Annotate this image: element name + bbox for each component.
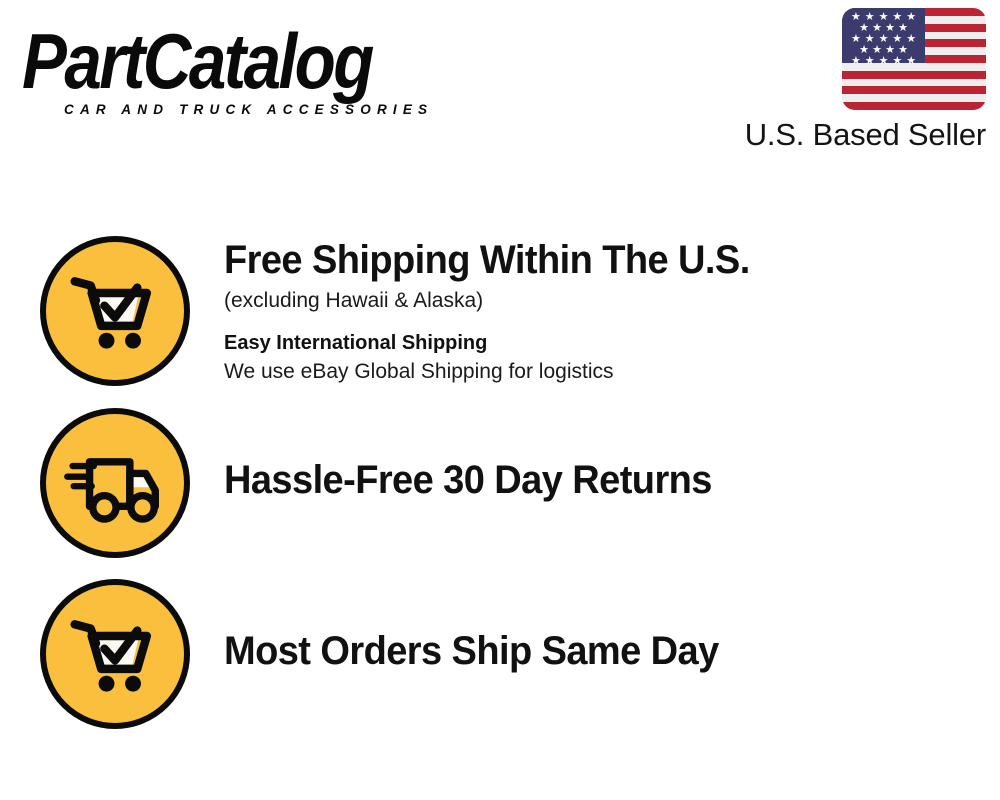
feature-headline: Most Orders Ship Same Day	[224, 629, 719, 673]
feature-subtext-detail: We use eBay Global Shipping for logistic…	[224, 357, 777, 386]
star-icon: ★	[851, 56, 861, 67]
promo-banner: PartCatalog CAR AND TRUCK ACCESSORIES	[0, 0, 1000, 800]
seller-label: U.S. Based Seller	[745, 118, 986, 152]
feature-headline: Hassle-Free 30 Day Returns	[224, 458, 712, 502]
feature-text-block: Most Orders Ship Same Day	[224, 579, 745, 673]
flag-star-row: ★ ★ ★ ★ ★	[847, 12, 920, 23]
feature-subtext-strong: Easy International Shipping	[224, 329, 777, 357]
star-icon: ★	[906, 56, 916, 67]
feature-subtext: (excluding Hawaii & Alaska)	[224, 286, 777, 315]
star-icon: ★	[865, 56, 875, 67]
shopping-cart-check-icon	[40, 579, 190, 729]
flag-stripe	[842, 94, 986, 102]
feature-row: Most Orders Ship Same Day	[0, 579, 1000, 729]
brand-logo: PartCatalog CAR AND TRUCK ACCESSORIES	[22, 22, 492, 117]
feature-row: Free Shipping Within The U.S. (excluding…	[0, 236, 1000, 386]
flag-stripe	[842, 79, 986, 87]
flag-star-field: ★ ★ ★ ★ ★ ★ ★ ★ ★ ★	[842, 8, 925, 63]
flag-star-row: ★ ★ ★ ★ ★	[847, 56, 920, 67]
flag-star-row: ★ ★ ★ ★ ★	[847, 34, 920, 45]
delivery-truck-icon	[40, 408, 190, 558]
flag-canton: ★ ★ ★ ★ ★ ★ ★ ★ ★ ★	[842, 8, 925, 63]
star-icon: ★	[879, 56, 889, 67]
feature-headline: Free Shipping Within The U.S.	[224, 238, 750, 282]
feature-row: Hassle-Free 30 Day Returns	[0, 408, 1000, 558]
shopping-cart-check-icon	[40, 236, 190, 386]
flag-stripe	[842, 71, 986, 79]
us-flag-icon: ★ ★ ★ ★ ★ ★ ★ ★ ★ ★	[842, 8, 986, 110]
feature-text-block: Free Shipping Within The U.S. (excluding…	[224, 236, 777, 386]
flag-stripe	[842, 86, 986, 94]
us-based-seller-badge: ★ ★ ★ ★ ★ ★ ★ ★ ★ ★	[745, 8, 986, 152]
flag-stripe	[842, 102, 986, 110]
logo-wordmark: PartCatalog	[22, 22, 501, 100]
feature-text-block: Hassle-Free 30 Day Returns	[224, 408, 738, 502]
banner-header: PartCatalog CAR AND TRUCK ACCESSORIES	[0, 0, 1000, 170]
star-icon: ★	[892, 56, 902, 67]
